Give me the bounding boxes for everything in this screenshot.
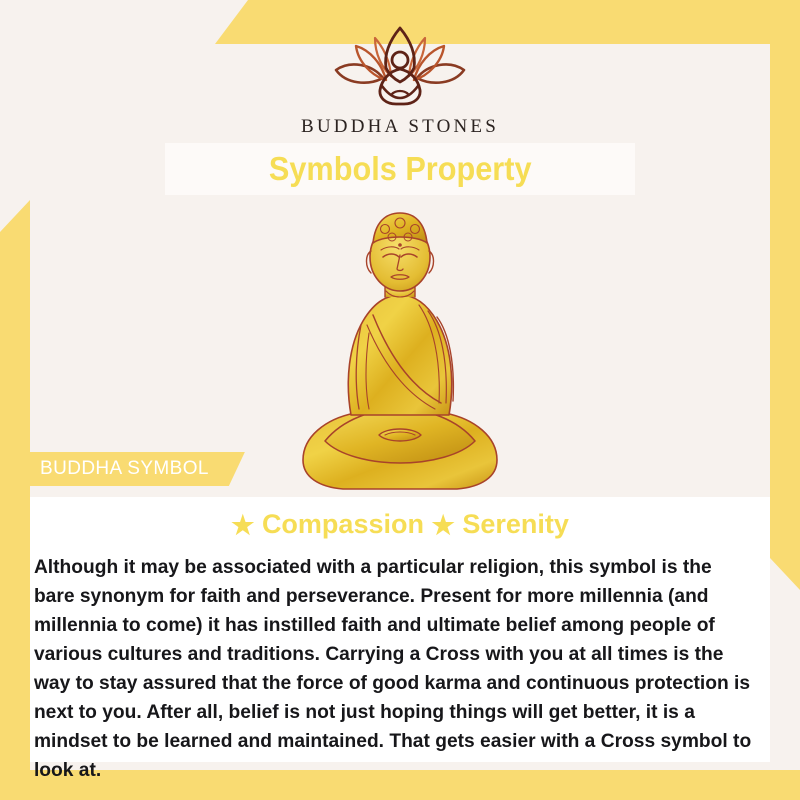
symbol-tag-label: BUDDHA SYMBOL [40,458,209,480]
page-title: Symbols Property [269,150,532,188]
brand-wordmark: BUDDHA STONES [0,116,800,138]
tagline-second-word: Serenity [462,509,569,539]
symbol-tag: BUDDHA SYMBOL [18,452,245,486]
content-card: ★ Compassion ★ Serenity Although it may … [30,497,770,762]
poster-root: BUDDHA STONES Symbols Property [0,0,800,800]
tagline: ★ Compassion ★ Serenity [30,509,770,541]
brand-header: BUDDHA STONES [0,24,800,138]
star-icon-second: ★ [431,510,454,540]
lotus-meditation-figure-icon [320,24,480,110]
tagline-first-word: Compassion [262,509,424,539]
star-icon-first: ★ [231,510,254,540]
title-banner: Symbols Property [165,143,635,195]
body-paragraph: Although it may be associated with a par… [30,553,759,785]
golden-buddha-statue [285,205,515,500]
